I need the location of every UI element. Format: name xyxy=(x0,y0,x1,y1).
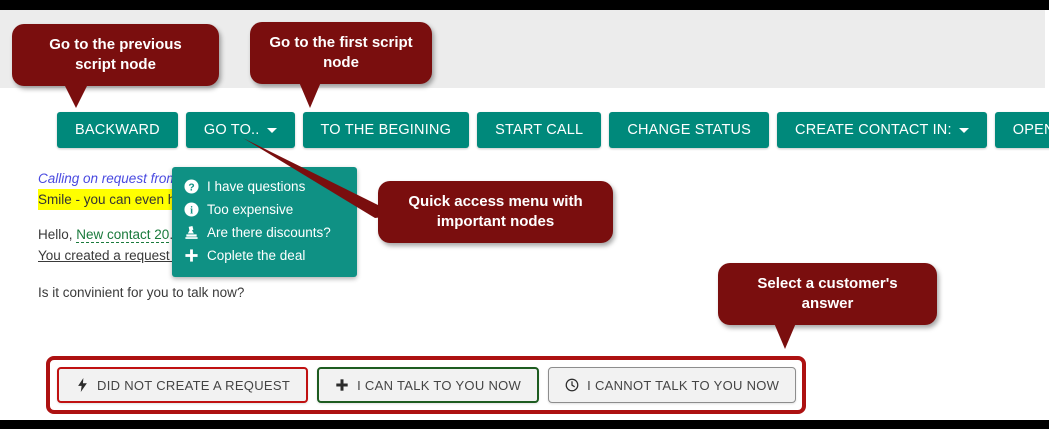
info-circle-icon: i xyxy=(184,202,199,217)
answer-cannot-talk-now[interactable]: I CANNOT TALK TO YOU NOW xyxy=(548,367,796,403)
callout-previous-node: Go to the previous script node xyxy=(12,24,219,86)
plus-icon xyxy=(335,378,349,392)
bolt-icon xyxy=(75,378,89,392)
callout-first-node-text: Go to the first script node xyxy=(269,34,412,71)
script-greeting-prefix: Hello, xyxy=(38,227,76,242)
answer-buttons-row: DID NOT CREATE A REQUEST I CAN TALK TO Y… xyxy=(57,367,796,403)
backward-button-label: BACKWARD xyxy=(75,122,160,138)
start-call-button-label: START CALL xyxy=(495,122,583,138)
dropdown-item-too-expensive[interactable]: i Too expensive xyxy=(172,198,357,221)
change-status-button[interactable]: CHANGE STATUS xyxy=(609,112,769,148)
dropdown-item-i-have-questions[interactable]: ? I have questions xyxy=(172,175,357,198)
dropdown-item-complete-the-deal[interactable]: Coplete the deal xyxy=(172,244,357,267)
change-status-button-label: CHANGE STATUS xyxy=(627,122,751,138)
create-contact-in-button-label: CREATE CONTACT IN: xyxy=(795,122,952,138)
open-contact-button[interactable]: OPEN CONTACT xyxy=(995,112,1049,148)
dropdown-item-label: I have questions xyxy=(207,179,305,194)
callout-tail xyxy=(774,323,796,349)
dropdown-item-label: Are there discounts? xyxy=(207,225,331,240)
dropdown-item-label: Too expensive xyxy=(207,202,293,217)
contact-name-token[interactable]: New contact 20 xyxy=(76,227,169,243)
go-to-button-label: GO TO.. xyxy=(204,122,260,138)
dropdown-item-label: Coplete the deal xyxy=(207,248,305,263)
callout-select-answer: Select a customer's answer xyxy=(718,263,937,325)
stamp-discount-icon xyxy=(184,225,199,240)
open-contact-button-label: OPEN CONTACT xyxy=(1013,122,1049,138)
callout-first-node: Go to the first script node xyxy=(250,22,432,84)
dropdown-item-are-there-discounts[interactable]: Are there discounts? xyxy=(172,221,357,244)
script-question-line: Is it convinient for you to talk now? xyxy=(38,282,598,303)
clock-icon xyxy=(565,378,579,392)
callout-tail xyxy=(299,82,321,108)
go-to-button[interactable]: GO TO.. xyxy=(186,112,295,148)
chevron-down-icon xyxy=(267,128,277,133)
call-script-panel: BACKWARD GO TO.. TO THE BEGINING START C… xyxy=(0,10,1049,420)
question-circle-icon: ? xyxy=(184,179,199,194)
answer-button-label: I CANNOT TALK TO YOU NOW xyxy=(587,378,779,393)
to-the-begining-button-label: TO THE BEGINING xyxy=(321,122,452,138)
script-toolbar: BACKWARD GO TO.. TO THE BEGINING START C… xyxy=(57,112,1049,148)
svg-text:?: ? xyxy=(188,182,194,193)
callout-previous-node-text: Go to the previous script node xyxy=(49,36,182,73)
svg-text:i: i xyxy=(190,205,193,216)
backward-button[interactable]: BACKWARD xyxy=(57,112,178,148)
answer-did-not-create-request[interactable]: DID NOT CREATE A REQUEST xyxy=(57,367,308,403)
create-contact-in-button[interactable]: CREATE CONTACT IN: xyxy=(777,112,987,148)
chevron-down-icon xyxy=(959,128,969,133)
callout-quick-menu: Quick access menu with important nodes xyxy=(378,181,613,243)
start-call-button[interactable]: START CALL xyxy=(477,112,601,148)
callout-tail xyxy=(64,84,88,108)
answer-can-talk-now[interactable]: I CAN TALK TO YOU NOW xyxy=(317,367,539,403)
answer-button-label: I CAN TALK TO YOU NOW xyxy=(357,378,521,393)
answer-button-label: DID NOT CREATE A REQUEST xyxy=(97,378,290,393)
to-the-begining-button[interactable]: TO THE BEGINING xyxy=(303,112,470,148)
go-to-dropdown-menu[interactable]: ? I have questions i Too expensive Are t… xyxy=(172,167,357,277)
callout-select-answer-text: Select a customer's answer xyxy=(757,275,897,312)
plus-icon xyxy=(184,248,199,263)
callout-quick-menu-text: Quick access menu with important nodes xyxy=(408,193,582,230)
